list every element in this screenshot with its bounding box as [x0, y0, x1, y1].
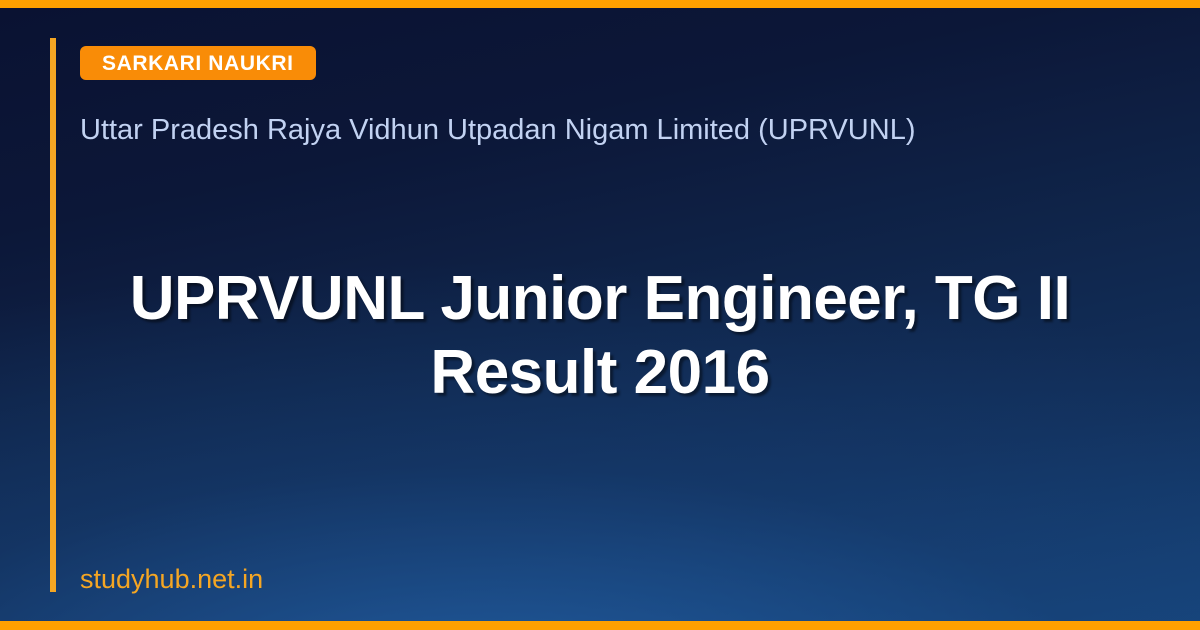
card-content: SARKARI NAUKRI Uttar Pradesh Rajya Vidhu… — [80, 0, 1120, 630]
site-url: studyhub.net.in — [80, 566, 263, 593]
page-title-container: UPRVUNL Junior Engineer, TG II Result 20… — [0, 262, 1200, 411]
og-card: SARKARI NAUKRI Uttar Pradesh Rajya Vidhu… — [0, 0, 1200, 630]
organization-subtitle: Uttar Pradesh Rajya Vidhun Utpadan Nigam… — [80, 112, 1120, 148]
status-badge: SARKARI NAUKRI — [80, 46, 316, 80]
bottom-accent-strip — [0, 621, 1200, 630]
page-title: UPRVUNL Junior Engineer, TG II Result 20… — [0, 262, 1200, 411]
status-badge-label: SARKARI NAUKRI — [102, 53, 294, 74]
